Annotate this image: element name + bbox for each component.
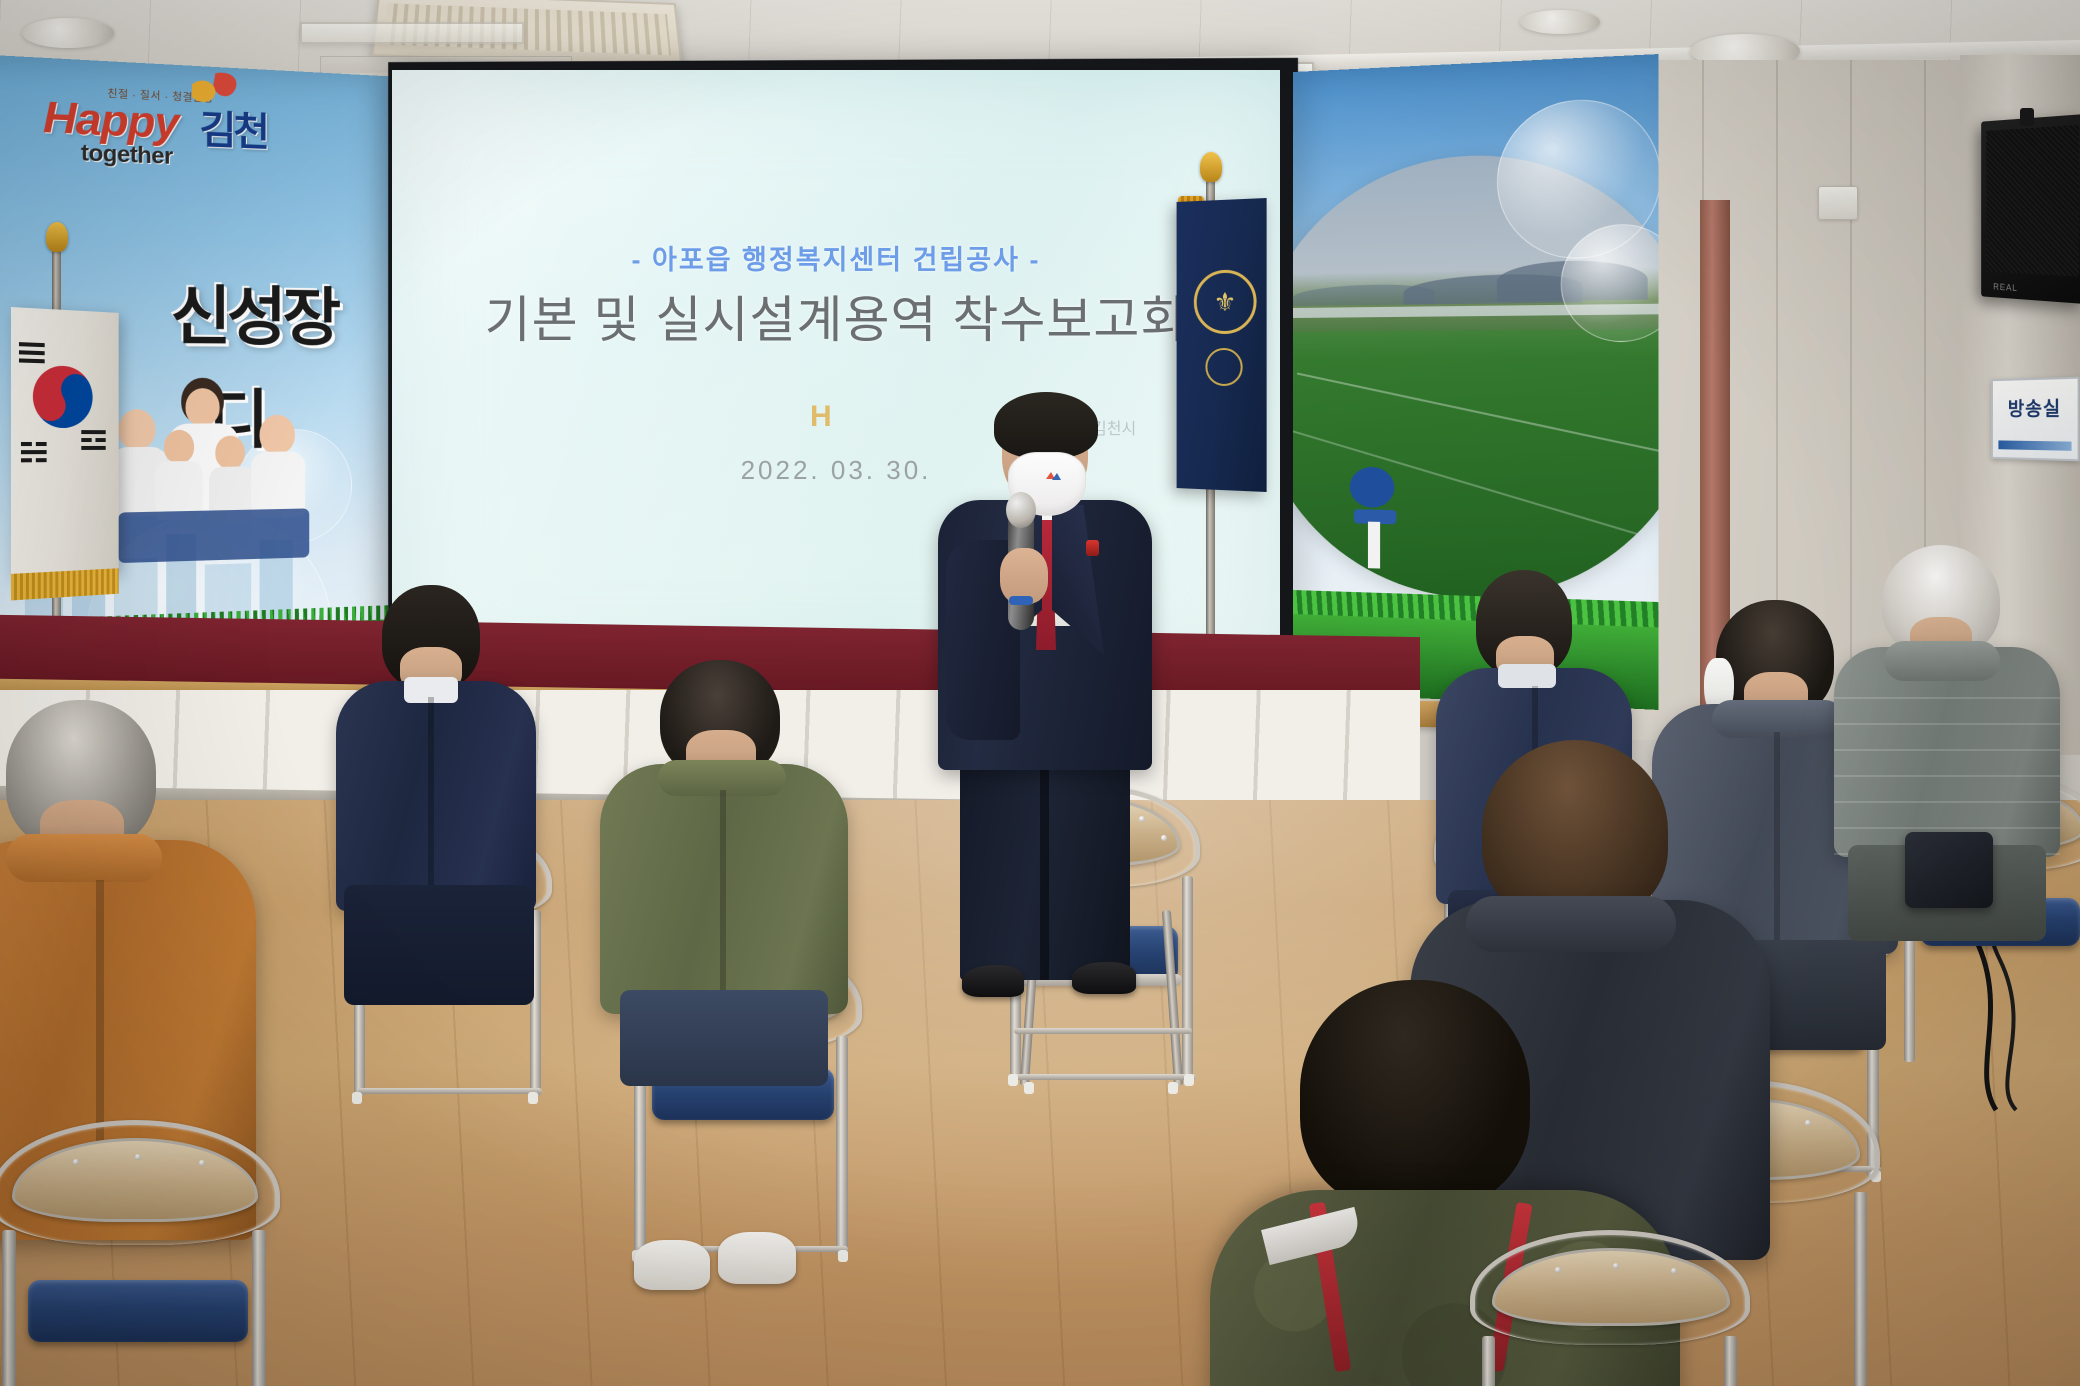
presenter-shoe-left	[962, 965, 1024, 997]
puffer-quilting	[1834, 685, 2060, 855]
attendee-shirt-collar	[1498, 664, 1556, 688]
chair-leg	[1724, 1336, 1737, 1386]
wall-switch-plate[interactable]	[1818, 186, 1858, 220]
taegeuk-symbol-icon	[21, 355, 103, 440]
attendee-coat-seam	[1774, 732, 1780, 948]
room-sign-label: 방송실	[1993, 393, 2078, 421]
slide-date: 2022. 03. 30.	[392, 455, 1280, 486]
city-flag: ⚜	[1177, 198, 1267, 492]
photo-scene: REAL 방송실 친절 · 질서 · 청결운동 Happy together 김…	[0, 0, 2080, 1386]
speaker-brand-label: REAL	[1993, 282, 2017, 293]
recessed-light-icon	[22, 18, 114, 48]
mask-logo-icon	[1044, 470, 1062, 482]
flag-finial-icon	[46, 222, 68, 252]
speaker-mount-bracket	[2020, 108, 2034, 126]
chair-seat	[28, 1280, 248, 1342]
chair-crossbar	[358, 1088, 542, 1094]
emblem-ring-icon	[1205, 348, 1242, 386]
flag-finial-icon	[1200, 152, 1222, 182]
presenter-lapel-pin	[1086, 540, 1099, 556]
speaker-grille	[1986, 125, 2079, 277]
chair-leg	[1182, 876, 1193, 1078]
chair-leg	[1482, 1336, 1495, 1386]
presenter-shoe-right	[1072, 962, 1136, 994]
korean-national-flag	[11, 307, 119, 578]
attendee-suit-jacket	[336, 681, 536, 911]
presenter-trouser-crease	[1040, 770, 1049, 980]
chair-leg	[252, 1230, 266, 1386]
city-emblem-icon: ⚜	[1194, 269, 1257, 334]
slide-title: 기본 및 실시설계용역 착수보고회	[392, 280, 1280, 352]
attendee-brown-hair	[1482, 740, 1668, 922]
banner-headline-1: 신성장	[170, 263, 336, 358]
attendee-jacket-hood	[1466, 896, 1676, 952]
pa-speaker: REAL	[1981, 114, 2080, 304]
trigram-icon	[19, 342, 45, 365]
logo-city-text: 김천	[199, 97, 266, 157]
attendee-jacket-seam	[428, 697, 434, 897]
chair-leg	[836, 1036, 848, 1256]
room-sign-accent	[1998, 440, 2071, 450]
microphone-head-icon	[1006, 492, 1036, 528]
microphone-indicator	[1009, 596, 1033, 605]
room-sign-broadcast: 방송실	[1991, 377, 2080, 462]
chair-crossbar	[1012, 1074, 1196, 1080]
chair-leg	[1854, 1192, 1867, 1386]
recessed-light-icon	[1520, 10, 1600, 34]
slide-subtitle: - 아포읍 행정복지센터 건립공사 -	[392, 238, 1280, 277]
attendee-lower-body	[344, 885, 534, 1005]
ceiling-light-panel	[300, 22, 524, 44]
chair-leg	[2, 1230, 16, 1386]
floor-bag	[1905, 832, 1993, 908]
attendee-hair	[1300, 980, 1530, 1210]
slide-watermark-text: 김천시	[1092, 415, 1136, 439]
chair-crossbar	[1014, 1028, 1192, 1034]
trigram-icon	[81, 430, 105, 452]
attendee-jeans	[620, 990, 828, 1086]
attendee-sneaker-right	[718, 1232, 796, 1284]
attendee-vest-collar	[1884, 641, 2000, 681]
presenter-hair	[994, 392, 1098, 458]
slide-watermark-icon: H	[810, 400, 832, 434]
attendee-jacket-seam	[720, 790, 726, 1010]
trigram-icon	[21, 442, 47, 464]
banner-number-icon	[1348, 463, 1411, 576]
attendee-jacket-collar	[6, 834, 162, 882]
attendee-sneaker-left	[634, 1240, 710, 1290]
